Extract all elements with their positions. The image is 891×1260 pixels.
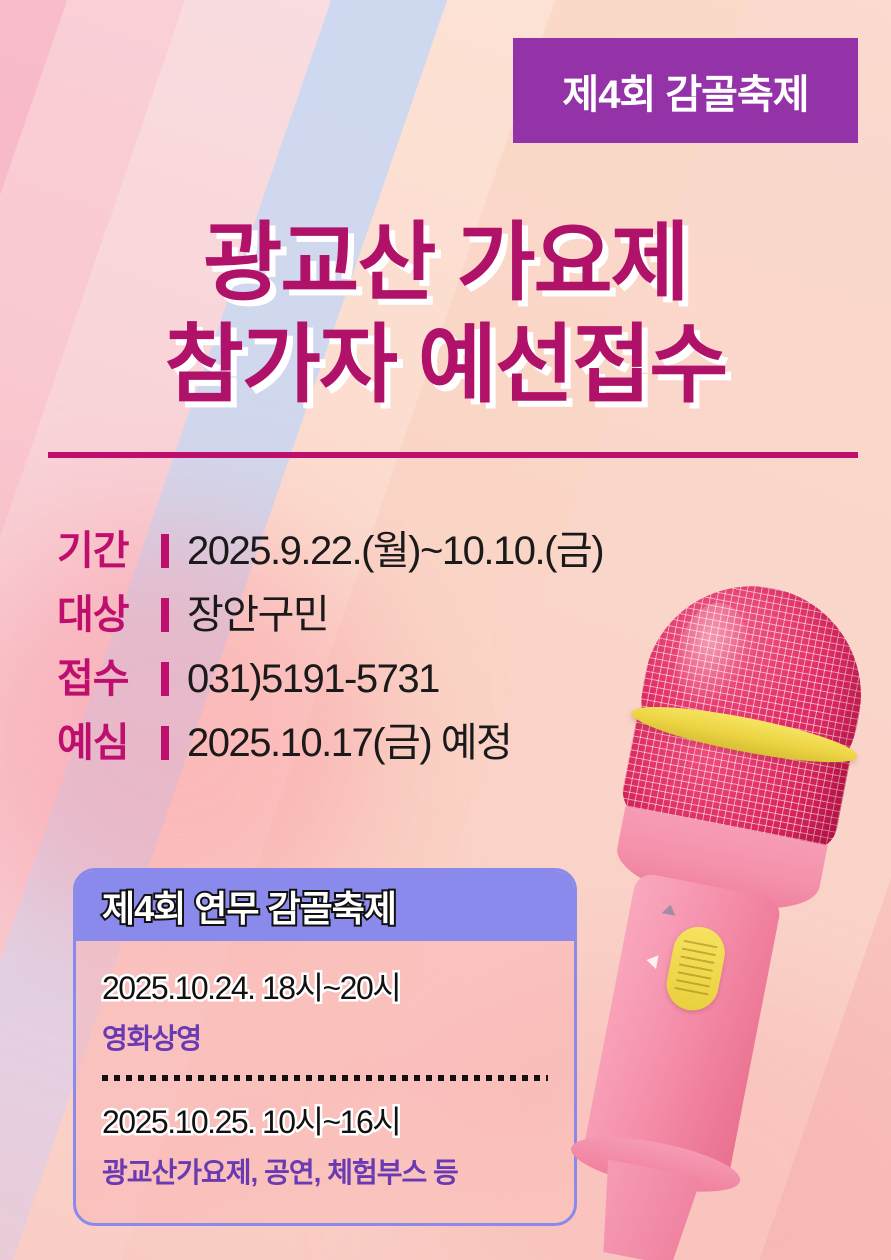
microphone-icon [600, 560, 891, 1260]
festival-badge: 제4회 감골축제 [513, 38, 858, 143]
info-value: 031)5191-5731 [187, 657, 439, 702]
info-value: 장안구민 [187, 582, 328, 640]
info-label: 기간 [57, 518, 157, 576]
info-label: 예심 [57, 710, 157, 768]
title-line-1: 광교산 가요제 [0, 218, 891, 308]
badge-label: 제4회 감골축제 [562, 62, 808, 120]
separator-bar-icon [161, 534, 169, 568]
schedule-event-2: 2025.10.25. 10시~16시 광교산가요제, 공연, 체험부스 등 [102, 1097, 548, 1191]
schedule-event-1: 2025.10.24. 18시~20시 영화상영 [102, 963, 548, 1057]
schedule-header-label: 제4회 연무 감골축제 [102, 880, 396, 932]
schedule-box: 제4회 연무 감골축제 2025.10.24. 18시~20시 영화상영 202… [73, 868, 577, 1226]
schedule-header: 제4회 연무 감골축제 [76, 871, 574, 941]
title-line-2: 참가자 예선접수 [0, 320, 891, 410]
mic-switch-ridges [674, 940, 717, 998]
event-description: 광교산가요제, 공연, 체험부스 등 [102, 1151, 548, 1191]
event-description: 영화상영 [102, 1017, 548, 1057]
info-label: 접수 [57, 646, 157, 704]
separator-bar-icon [161, 662, 169, 696]
schedule-divider [102, 1075, 548, 1081]
event-date: 2025.10.25. 10시~16시 [102, 1097, 548, 1143]
info-value: 2025.10.17(금) 예정 [187, 710, 511, 768]
separator-bar-icon [161, 726, 169, 760]
info-value: 2025.9.22.(월)~10.10.(금) [187, 518, 603, 576]
separator-bar-icon [161, 598, 169, 632]
festival-poster: 제4회 감골축제 광교산 가요제 참가자 예선접수 기간 2025.9.22.(… [0, 0, 891, 1260]
info-label: 대상 [57, 582, 157, 640]
page-title: 광교산 가요제 참가자 예선접수 [0, 218, 891, 410]
schedule-body: 2025.10.24. 18시~20시 영화상영 2025.10.25. 10시… [76, 941, 574, 1191]
title-divider [48, 452, 858, 458]
event-date: 2025.10.24. 18시~20시 [102, 963, 548, 1009]
